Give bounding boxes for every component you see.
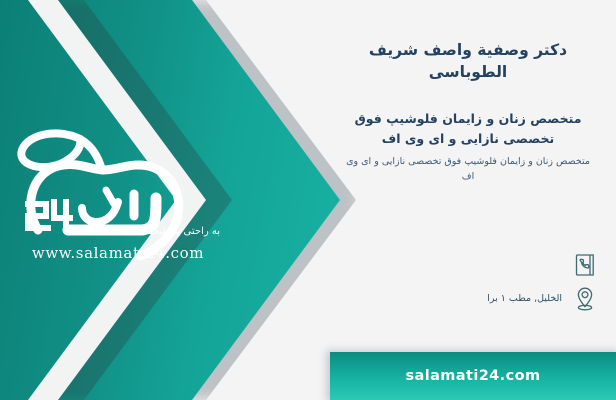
doctor-name: دكتر وصفية واصف شريف الطوباسى xyxy=(320,40,616,83)
logo-tagline: به راحتی یک لبخند xyxy=(110,226,220,237)
business-card: به راحتی یک لبخند www.salamati24.com دكت… xyxy=(0,0,616,400)
doctor-specialty-secondary: متخصص زنان و زایمان فلوشیپ فوق تخصصی ناز… xyxy=(320,154,616,184)
teal-panel xyxy=(0,0,340,400)
chevron-notch-stripe xyxy=(0,0,340,400)
logo-website-url: www.salamati24.com xyxy=(18,244,218,262)
doctor-specialty: متخصص زنان و زایمان فلوشیپ فوق تخصصی ناز… xyxy=(320,109,616,148)
card-content: دكتر وصفية واصف شريف الطوباسى متخصص زنان… xyxy=(320,0,616,400)
footer-bar[interactable]: salamati24.com xyxy=(330,352,616,400)
footer-website: salamati24.com xyxy=(406,368,541,384)
